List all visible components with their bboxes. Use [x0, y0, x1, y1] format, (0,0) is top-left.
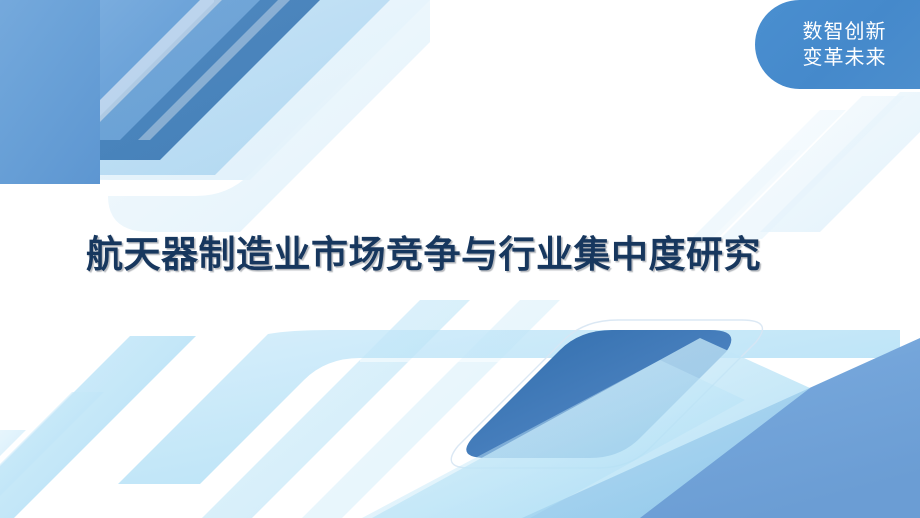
corner-badge: 数智创新 变革未来: [755, 0, 920, 89]
slide-canvas: 数智创新 变革未来 航天器制造业市场竞争与行业集中度研究: [0, 0, 920, 518]
badge-line-2: 变革未来: [803, 45, 887, 71]
page-title: 航天器制造业市场竞争与行业集中度研究: [86, 229, 798, 280]
badge-line-1: 数智创新: [803, 19, 887, 45]
title-block: 航天器制造业市场竞争与行业集中度研究: [86, 229, 798, 280]
